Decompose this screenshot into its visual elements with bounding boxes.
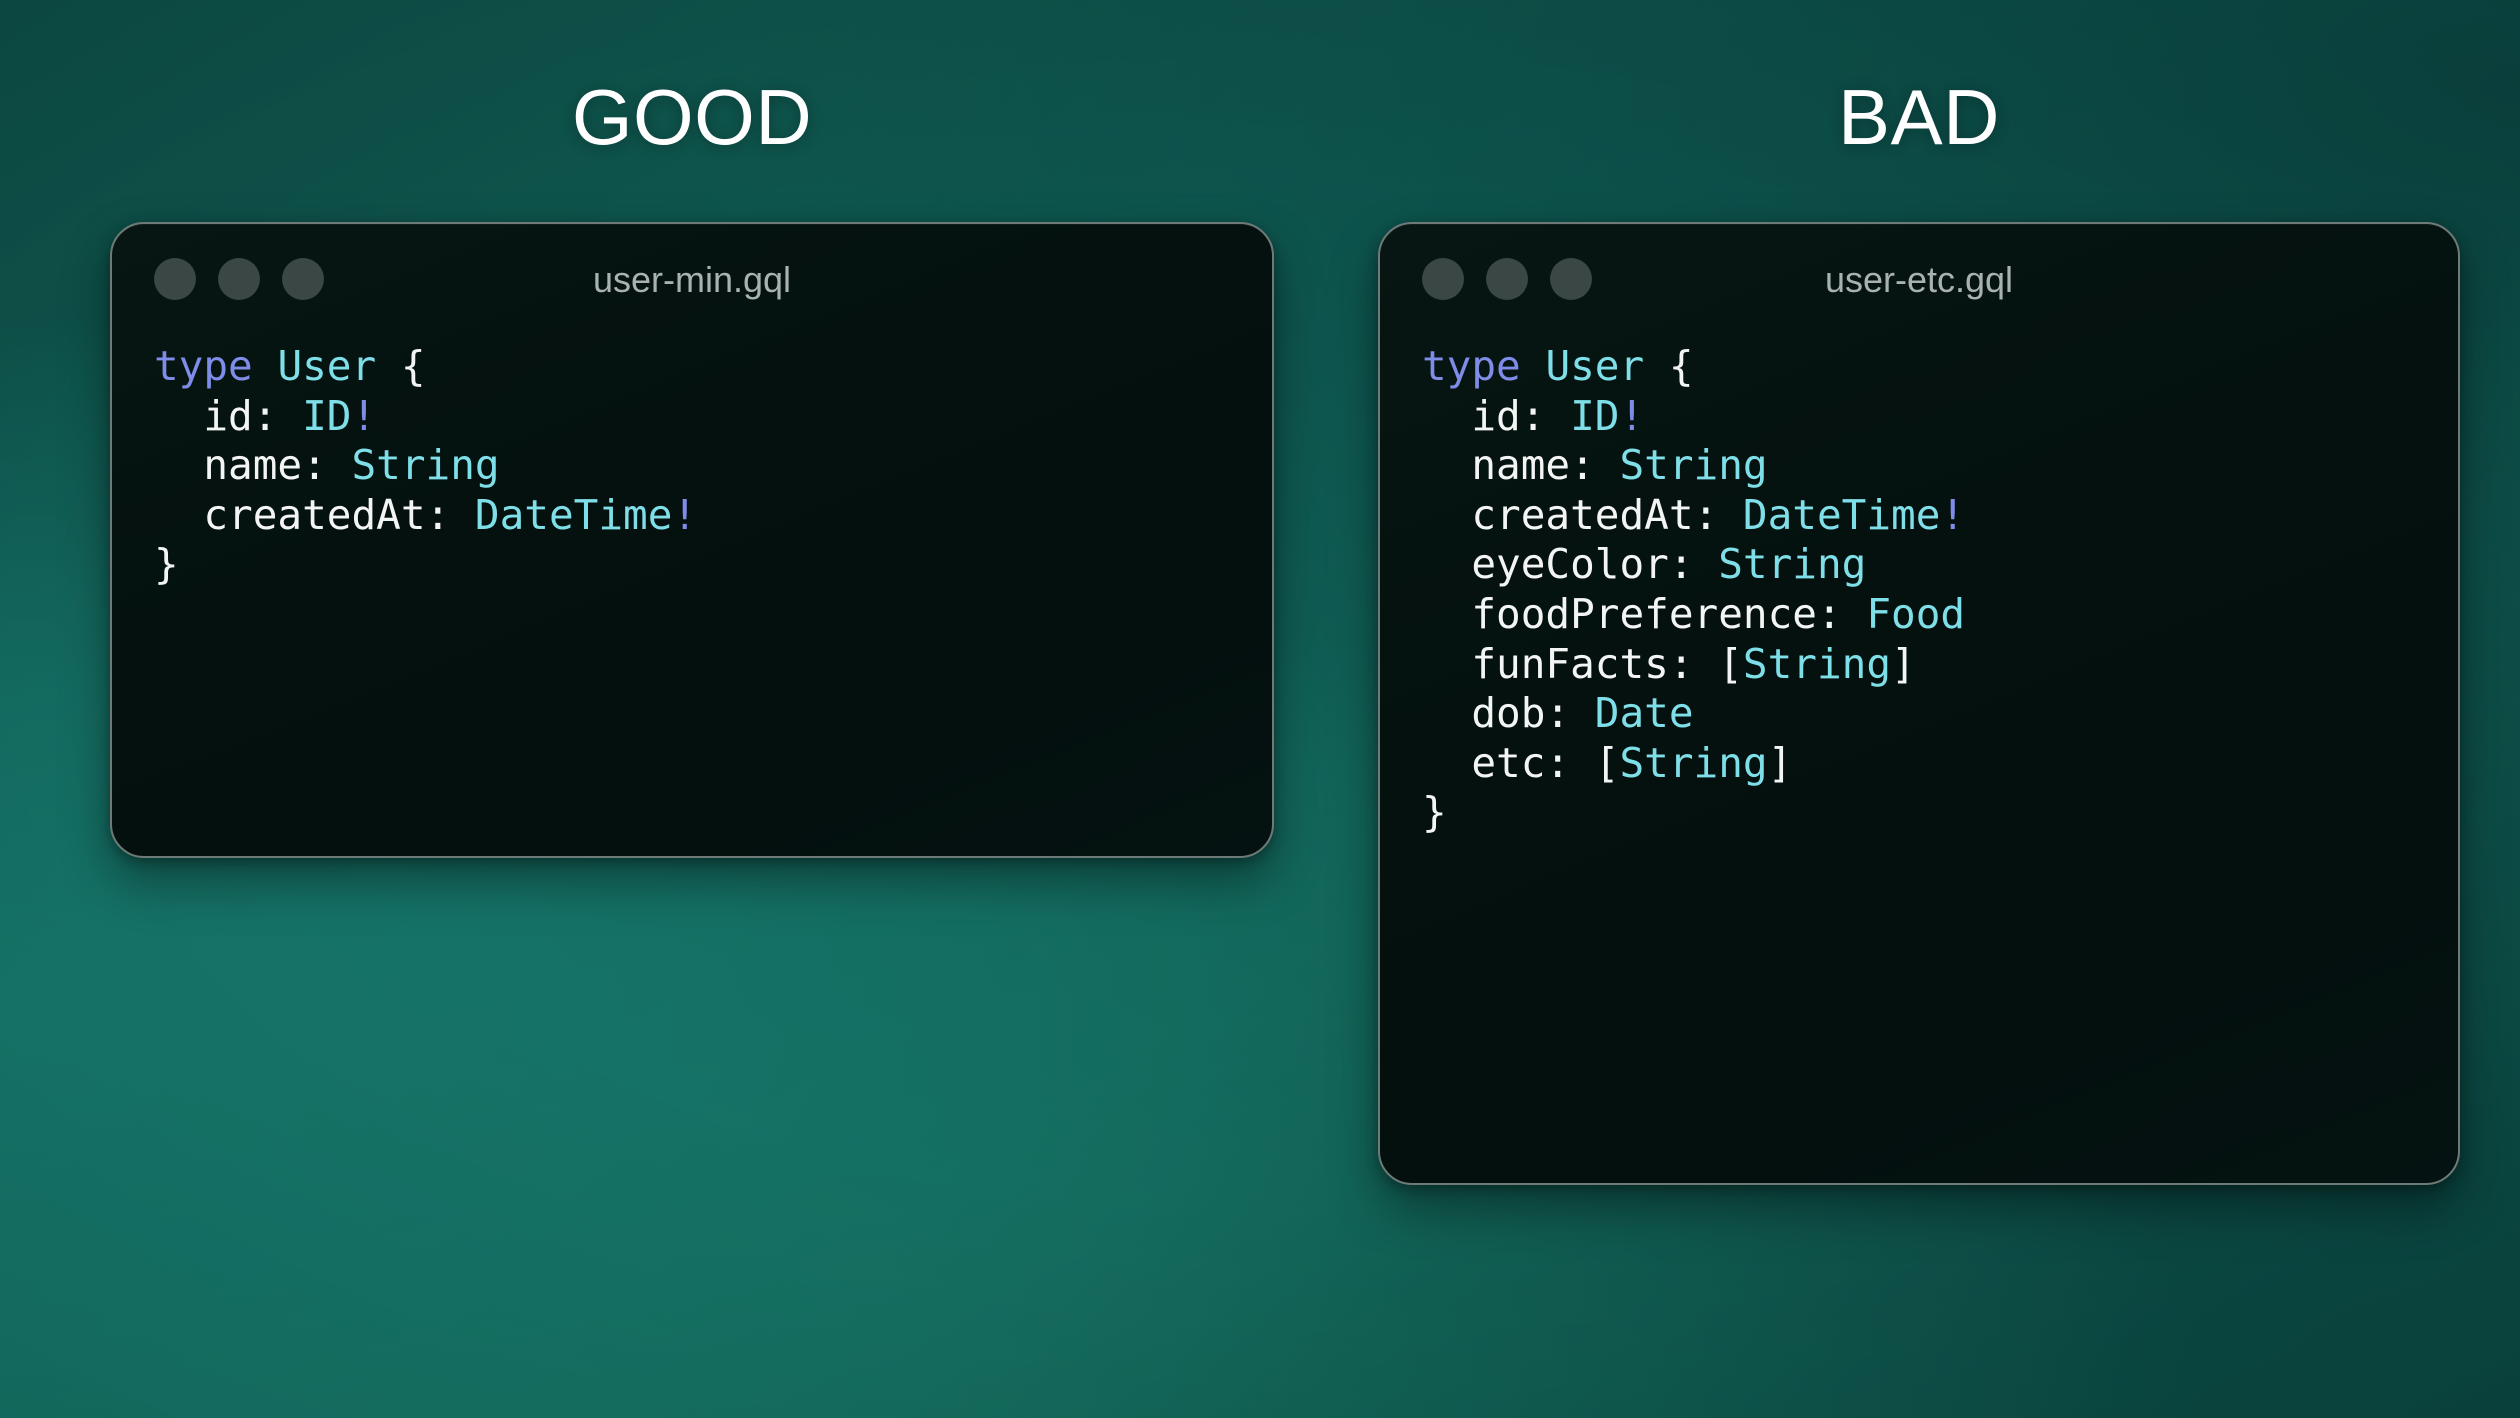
code-line: id: ID! xyxy=(1422,392,2458,442)
code-token-plain xyxy=(1644,342,1669,390)
code-token-punct: } xyxy=(154,540,179,588)
code-token-type: DateTime xyxy=(1743,491,1940,539)
code-window-good: user-min.gql type User { id: ID! name: S… xyxy=(110,222,1274,858)
code-line: type User { xyxy=(154,342,1272,392)
code-line: foodPreference: Food xyxy=(1422,590,2458,640)
code-token-type: String xyxy=(1718,540,1866,588)
code-token-type: String xyxy=(1619,441,1767,489)
code-token-plain: funFacts: xyxy=(1422,640,1718,688)
code-token-type: User xyxy=(1545,342,1644,390)
code-token-bang: ! xyxy=(1940,491,1965,539)
code-token-plain: createdAt: xyxy=(1422,491,1743,539)
code-line: etc: [String] xyxy=(1422,739,2458,789)
code-line: name: String xyxy=(1422,441,2458,491)
code-token-type: DateTime xyxy=(475,491,672,539)
code-line: dob: Date xyxy=(1422,689,2458,739)
code-token-punct: { xyxy=(401,342,426,390)
code-token-type: Date xyxy=(1595,689,1694,737)
panel-title-good: GOOD xyxy=(110,78,1274,156)
code-token-bang: ! xyxy=(351,392,376,440)
code-token-punct: } xyxy=(1422,788,1447,836)
code-token-type: User xyxy=(277,342,376,390)
code-token-kw: type xyxy=(1422,342,1521,390)
code-token-type: String xyxy=(351,441,499,489)
code-content-good[interactable]: type User { id: ID! name: String created… xyxy=(112,332,1272,590)
code-token-plain: dob: xyxy=(1422,689,1595,737)
code-token-plain: name: xyxy=(154,441,351,489)
window-titlebar-good: user-min.gql xyxy=(112,224,1272,332)
code-token-type: Food xyxy=(1866,590,1965,638)
code-token-punct: ] xyxy=(1891,640,1916,688)
code-token-type: String xyxy=(1743,640,1891,688)
code-token-kw: type xyxy=(154,342,253,390)
code-token-bang: ! xyxy=(672,491,697,539)
code-token-punct: [ xyxy=(1718,640,1743,688)
code-token-type: ID xyxy=(1570,392,1619,440)
code-line: funFacts: [String] xyxy=(1422,640,2458,690)
code-line: name: String xyxy=(154,441,1272,491)
code-token-bang: ! xyxy=(1619,392,1644,440)
code-token-punct: { xyxy=(1669,342,1694,390)
code-line: createdAt: DateTime! xyxy=(154,491,1272,541)
code-token-type: ID xyxy=(302,392,351,440)
code-token-plain xyxy=(253,342,278,390)
code-token-plain: id: xyxy=(1422,392,1570,440)
filename-label-good: user-min.gql xyxy=(112,262,1272,298)
code-token-plain: eyeColor: xyxy=(1422,540,1718,588)
code-line: type User { xyxy=(1422,342,2458,392)
code-token-type: String xyxy=(1619,739,1767,787)
code-token-plain: createdAt: xyxy=(154,491,475,539)
code-line: eyeColor: String xyxy=(1422,540,2458,590)
panel-title-bad: BAD xyxy=(1378,78,2460,156)
code-token-plain: id: xyxy=(154,392,302,440)
code-line: createdAt: DateTime! xyxy=(1422,491,2458,541)
code-token-plain xyxy=(1521,342,1546,390)
code-line: id: ID! xyxy=(154,392,1272,442)
code-token-punct: [ xyxy=(1595,739,1620,787)
code-content-bad[interactable]: type User { id: ID! name: String created… xyxy=(1380,332,2458,838)
code-token-plain: etc: xyxy=(1422,739,1595,787)
code-token-plain: foodPreference: xyxy=(1422,590,1866,638)
filename-label-bad: user-etc.gql xyxy=(1380,262,2458,298)
code-token-plain: name: xyxy=(1422,441,1619,489)
code-token-punct: ] xyxy=(1768,739,1793,787)
code-token-plain xyxy=(376,342,401,390)
window-titlebar-bad: user-etc.gql xyxy=(1380,224,2458,332)
code-line: } xyxy=(154,540,1272,590)
code-line: } xyxy=(1422,788,2458,838)
code-window-bad: user-etc.gql type User { id: ID! name: S… xyxy=(1378,222,2460,1185)
